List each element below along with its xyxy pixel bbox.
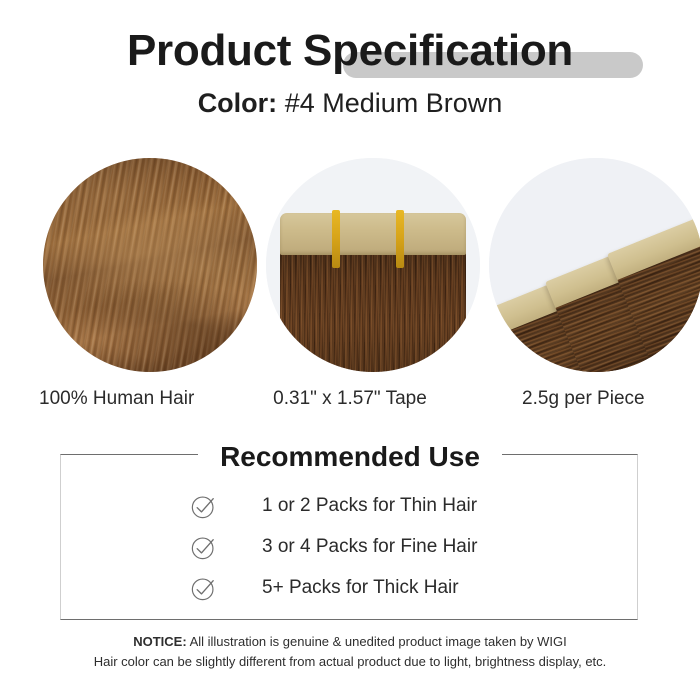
color-value: #4 Medium Brown: [285, 88, 503, 118]
check-circle-icon: [190, 575, 217, 602]
header: Product Specification Color: #4 Medium B…: [0, 0, 700, 120]
list-item-label: 1 or 2 Packs for Thin Hair: [262, 495, 477, 518]
recommended-use-heading: Recommended Use: [198, 439, 502, 474]
list-item: 5+ Packs for Thick Hair: [0, 568, 700, 609]
product-caption-3: 2.5g per Piece: [467, 387, 700, 411]
product-image-1: [43, 158, 257, 372]
list-item: 3 or 4 Packs for Fine Hair: [0, 527, 700, 568]
notice-label: NOTICE:: [133, 634, 186, 649]
notice-line-1: NOTICE: All illustration is genuine & un…: [0, 632, 700, 652]
product-caption-1: 100% Human Hair: [0, 387, 233, 411]
list-item: 1 or 2 Packs for Thin Hair: [0, 486, 700, 527]
tape-seam-1: [332, 210, 340, 268]
product-caption-row: 100% Human Hair 0.31" x 1.57" Tape 2.5g …: [0, 387, 700, 411]
stacked-wefts-icon: [489, 158, 700, 372]
color-label: Color:: [198, 88, 277, 118]
page-title: Product Specification: [127, 26, 573, 75]
notice-block: NOTICE: All illustration is genuine & un…: [0, 632, 700, 672]
weft-tape-tabs: [280, 213, 466, 255]
weft-hair-strands: [280, 253, 466, 372]
product-image-3: [489, 158, 700, 372]
list-item-label: 3 or 4 Packs for Fine Hair: [262, 536, 477, 559]
hair-texture: [43, 158, 257, 372]
page-title-wrap: Product Specification: [127, 26, 573, 75]
notice-line-1-text: All illustration is genuine & unedited p…: [187, 634, 567, 649]
list-item-label: 5+ Packs for Thick Hair: [262, 577, 459, 600]
recommended-use-heading-wrap: Recommended Use: [0, 439, 700, 474]
product-image-2: [266, 158, 480, 372]
check-circle-icon: [190, 493, 217, 520]
hair-swatch-icon: [43, 158, 257, 372]
product-image-row: [0, 158, 700, 374]
check-circle-icon: [190, 534, 217, 561]
tape-weft-icon: [266, 158, 480, 372]
product-caption-2: 0.31" x 1.57" Tape: [233, 387, 466, 411]
color-subtitle: Color: #4 Medium Brown: [0, 87, 700, 119]
notice-line-2: Hair color can be slightly different fro…: [0, 652, 700, 672]
tape-seam-2: [396, 210, 404, 268]
weft-assembly: [280, 213, 466, 372]
recommended-use-list: 1 or 2 Packs for Thin Hair 3 or 4 Packs …: [0, 486, 700, 609]
